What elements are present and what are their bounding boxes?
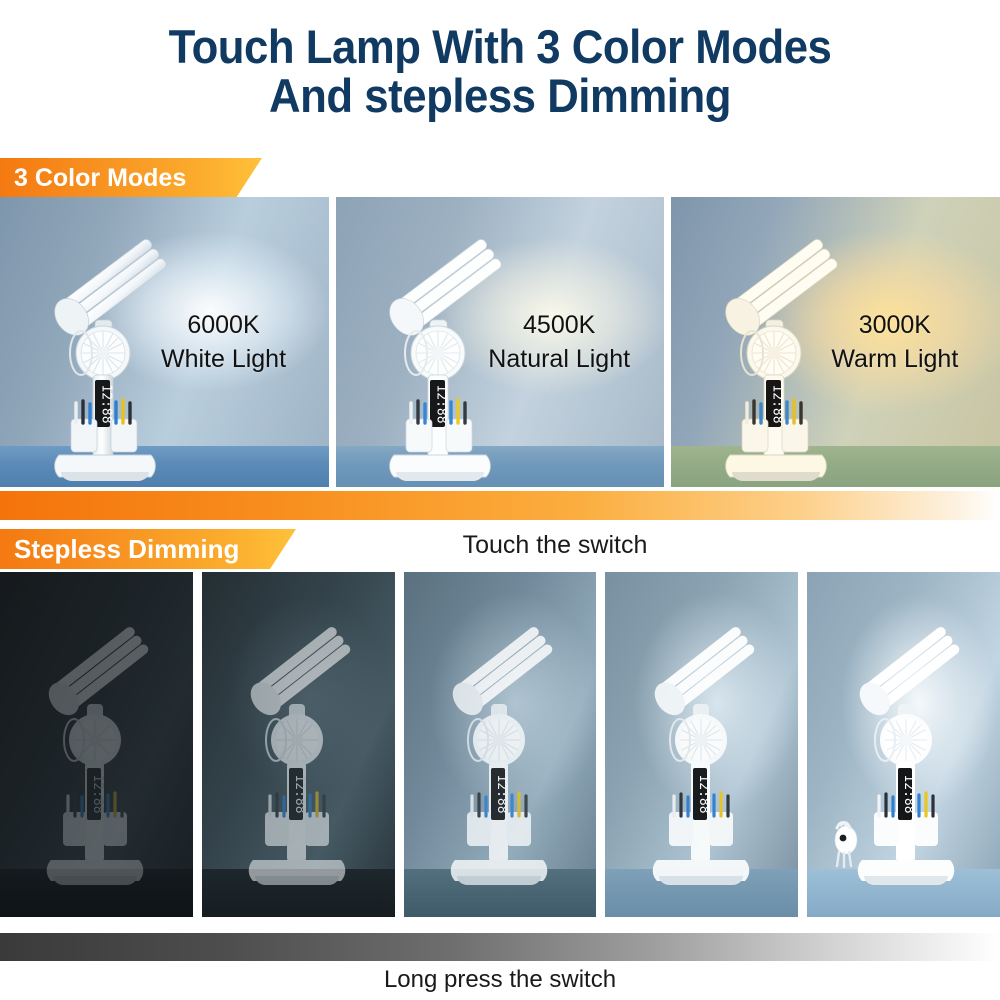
lamp-illustration: 12:88 — [427, 572, 577, 917]
color-modes-photo-row: 12:88 6000K White Light — [0, 197, 1000, 487]
touch-the-switch-caption: Touch the switch — [0, 531, 1000, 560]
banner-3-color-modes: 3 Color Modes — [0, 158, 262, 198]
photo-dim-level-4-high: 12:88 — [605, 572, 798, 917]
banner-3-color-modes-label: 3 Color Modes — [14, 164, 186, 193]
svg-text:12:88: 12:88 — [90, 774, 105, 813]
desk-figurine — [835, 823, 857, 867]
svg-text:12:88: 12:88 — [696, 774, 711, 813]
mode-label: Warm Light — [809, 342, 980, 376]
lamp-illustration: 12:88 — [834, 572, 984, 917]
lamp-illustration: 12:88 — [23, 572, 173, 917]
photo-6000k-white-light: 12:88 6000K White Light — [0, 197, 329, 487]
photo-4500k-natural-light: 12:88 4500K Natural Light — [336, 197, 665, 487]
stepless-dimming-photo-row: 12:88 — [0, 572, 1000, 917]
photo-dim-level-3-mid: 12:88 — [404, 572, 597, 917]
lamp-illustration: 12:88 — [225, 572, 375, 917]
mode-label: Natural Light — [474, 342, 645, 376]
svg-text:12:88: 12:88 — [901, 774, 916, 813]
svg-text:12:88: 12:88 — [98, 384, 113, 423]
mode-label: White Light — [138, 342, 309, 376]
grey-gradient-divider — [0, 933, 1000, 961]
lamp-illustration: 12:88 — [629, 572, 779, 917]
svg-text:12:88: 12:88 — [494, 774, 509, 813]
photo-dim-level-1-off: 12:88 — [0, 572, 193, 917]
caption-4500k: 4500K Natural Light — [474, 308, 645, 376]
svg-text:12:88: 12:88 — [769, 384, 784, 423]
caption-3000k: 3000K Warm Light — [809, 308, 980, 376]
title-line-2: And stepless Dimming — [35, 71, 965, 120]
long-press-the-switch-caption: Long press the switch — [0, 966, 1000, 994]
svg-text:12:88: 12:88 — [434, 384, 449, 423]
photo-dim-level-5-full-bright: 12:88 — [807, 572, 1000, 917]
caption-6000k: 6000K White Light — [138, 308, 309, 376]
kelvin-value: 4500K — [474, 308, 645, 342]
kelvin-value: 3000K — [809, 308, 980, 342]
title-line-1: Touch Lamp With 3 Color Modes — [35, 22, 965, 71]
photo-3000k-warm-light: 12:88 3000K Warm Light — [671, 197, 1000, 487]
orange-gradient-divider — [0, 491, 1000, 520]
photo-dim-level-2-low: 12:88 — [202, 572, 395, 917]
kelvin-value: 6000K — [138, 308, 309, 342]
page-title: Touch Lamp With 3 Color Modes And steple… — [0, 22, 1000, 120]
svg-text:12:88: 12:88 — [292, 774, 307, 813]
